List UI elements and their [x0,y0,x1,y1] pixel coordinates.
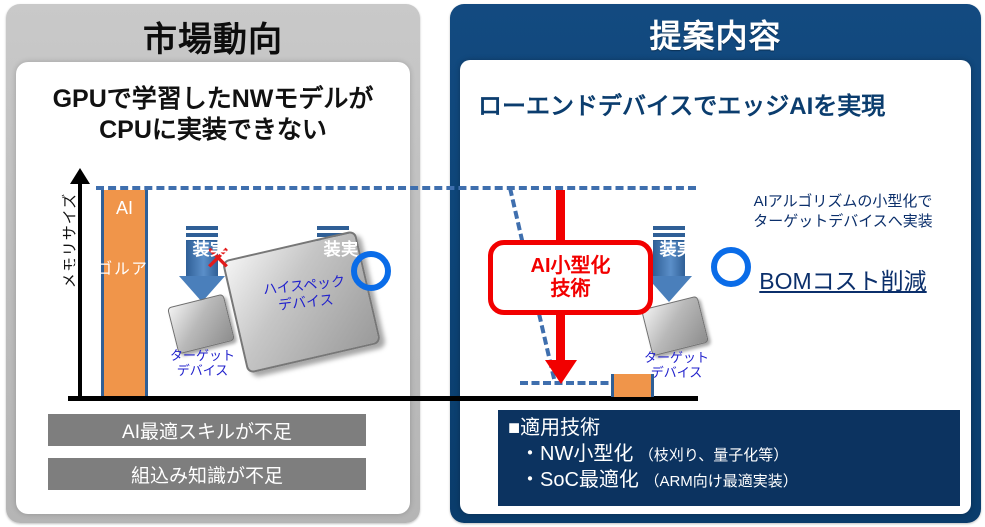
circle-mark-icon-left [351,251,391,291]
ai-miniaturization-tech-box: AI小型化 技術 [488,240,653,315]
note-line1: AIアルゴリズムの小型化で [718,192,968,212]
applied-technology-title: ■適用技術 [508,416,960,441]
target-device-chip-label-right: ターゲット デバイス [629,351,724,381]
applied-technology-item-1: ・SoC最適化 （ARM向け最適実装） [508,467,960,493]
tech-item-1-bullet: ・SoC最適化 [520,469,639,491]
proposal-note-text: AIアルゴリズムの小型化で ターゲットデバイスへ実装 [718,192,968,233]
red-box-line1: AI小型化 [531,255,611,277]
bom-cost-reduction-text: BOMコスト削減 [718,262,968,296]
chart-baseline [68,396,698,401]
target-device-label-line2: デバイス [155,364,250,379]
red-box-line2: 技術 [551,278,591,300]
red-arrow-head-icon [545,360,577,384]
implementation-arrow-label: 実装 [310,240,356,257]
right-panel-subtitle: ローエンドデバイスでエッジAIを実現 [478,86,958,121]
tech-item-0-bullet: ・NW小型化 [520,443,633,465]
ai-algorithm-bar-large: AI アルゴリズム [101,190,148,396]
target-device-label-line1: ターゲット [155,349,250,364]
tech-item-1-detail: （ARM向け最適実装） [644,473,797,490]
implementation-arrow-label: 実装 [179,240,225,257]
applied-technology-item-0: ・NW小型化 （枝刈り、量子化等） [508,441,960,467]
issue-bar-embedded-knowledge: 組込み知識が不足 [48,458,366,490]
left-panel-header: 市場動向 [6,10,420,62]
target-device-chip-label-left: ターゲット デバイス [155,349,250,379]
ai-bar-label-vertical: アルゴリズム [104,260,145,276]
left-subtitle-line1: GPUで学習したNWモデルが [16,84,410,115]
issue-bar-ai-skill: AI最適スキルが不足 [48,414,366,446]
target-device-label-line1: ターゲット [629,351,724,366]
tech-item-0-detail: （枝刈り、量子化等） [639,447,788,464]
applied-technology-box: ■適用技術 ・NW小型化 （枝刈り、量子化等） ・SoC最適化 （ARM向け最適… [498,410,960,506]
left-panel-subtitle: GPUで学習したNWモデルが CPUに実装できない [16,84,410,145]
right-panel-header: 提案内容 [450,10,981,58]
y-axis-label: メモリサイズ [59,186,80,296]
left-subtitle-line2: CPUに実装できない [16,115,410,146]
note-line2: ターゲットデバイスへ実装 [718,212,968,232]
target-device-label-line2: デバイス [629,366,724,381]
dashed-connector-top [96,186,696,190]
ai-bar-label-top: AI [104,198,145,219]
